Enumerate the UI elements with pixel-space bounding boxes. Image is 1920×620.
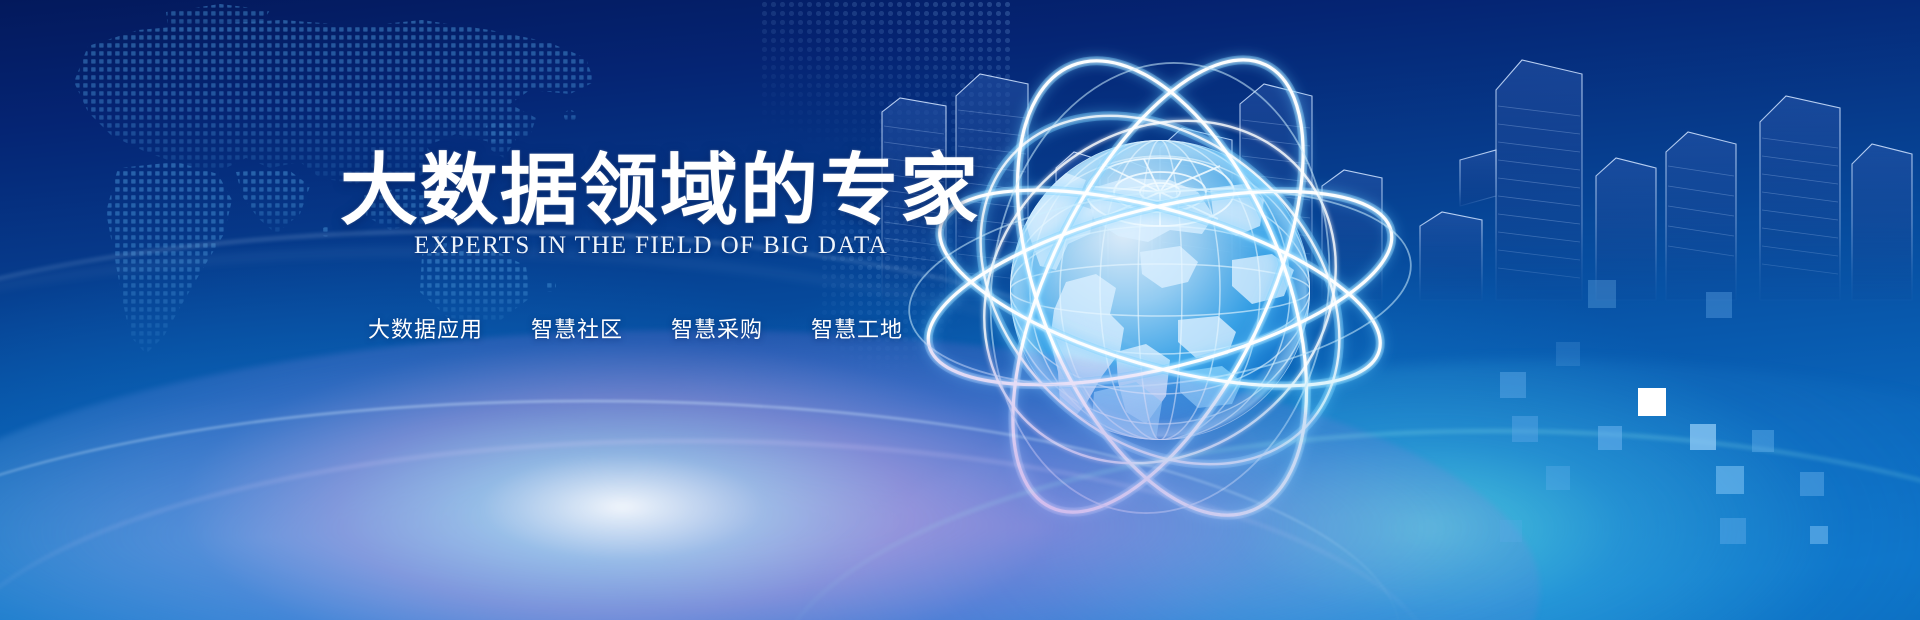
pixel-square: [1706, 292, 1732, 318]
city-skyline-graphic: [860, 0, 1920, 360]
page-title: 大数据领域的专家: [340, 152, 980, 230]
nav-link-smart-community[interactable]: 智慧社区: [531, 312, 623, 344]
nav-link-smart-procurement[interactable]: 智慧采购: [671, 312, 763, 344]
pixel-square: [1800, 472, 1824, 496]
pixel-square: [1588, 280, 1616, 308]
big-data-banner: 大数据领域的专家 EXPERTS IN THE FIELD OF BIG DAT…: [0, 0, 1920, 620]
pixel-square: [1690, 424, 1716, 450]
pixel-square: [1598, 426, 1622, 450]
pixel-square: [1638, 388, 1666, 416]
nav-link-bigdata-application[interactable]: 大数据应用: [368, 312, 483, 344]
pixel-square: [1500, 520, 1522, 542]
pixel-square: [1512, 416, 1538, 442]
nav-link-smart-construction[interactable]: 智慧工地: [811, 312, 903, 344]
pixel-square: [1556, 342, 1580, 366]
banner-content: 大数据领域的专家 EXPERTS IN THE FIELD OF BIG DAT…: [0, 0, 920, 620]
banner-nav: 大数据应用 智慧社区 智慧采购 智慧工地: [368, 312, 903, 344]
page-subtitle: EXPERTS IN THE FIELD OF BIG DATA: [414, 232, 888, 260]
pixel-squares-decoration: [1500, 280, 1920, 620]
pixel-square: [1546, 466, 1570, 490]
aurora-cyan: [800, 360, 1920, 620]
globe-graphic: [880, 20, 1440, 580]
pixel-square: [1810, 526, 1828, 544]
pixel-square: [1752, 430, 1774, 452]
pixel-square: [1500, 372, 1526, 398]
sweep-line-3: [770, 430, 1920, 620]
pixel-square: [1716, 466, 1744, 494]
pixel-square: [1720, 518, 1746, 544]
